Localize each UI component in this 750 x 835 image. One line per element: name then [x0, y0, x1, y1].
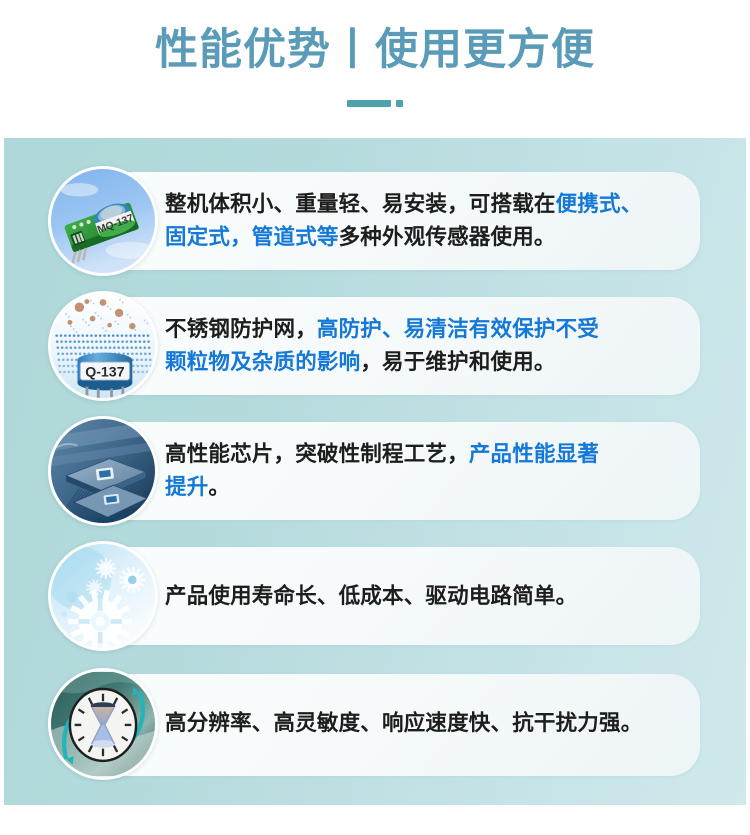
mq137-sensor-module-icon: MQ-137 — [48, 166, 158, 276]
feature-list: MQ-137 整机体积小、重量轻、易安装，可搭载在便携式、固定式，管道式等多种外… — [0, 138, 750, 805]
body-text: 整机体积小、重量轻、易安装，可搭载在 — [165, 192, 556, 216]
feature-text: 整机体积小、重量轻、易安装，可搭载在便携式、固定式，管道式等多种外观传感器使用。 — [165, 166, 685, 276]
highlighted-text: 提升 — [165, 475, 208, 499]
body-text: 高性能芯片，突破性制程工艺， — [165, 442, 469, 466]
feature-paragraph: 整机体积小、重量轻、易安装，可搭载在便携式、固定式，管道式等多种外观传感器使用。 — [165, 188, 642, 254]
feature-text: 高性能芯片，突破性制程工艺，产品性能显著提升。 — [165, 416, 685, 526]
highlighted-text: 产品性能显著 — [469, 442, 599, 466]
feature-row: 高分辨率、高灵敏度、响应速度快、抗干扰力强。 — [0, 668, 750, 783]
feature-row: 产品使用寿命长、低成本、驱动电路简单。 — [0, 541, 750, 653]
feature-text: 高分辨率、高灵敏度、响应速度快、抗干扰力强。 — [165, 668, 685, 778]
highlighted-text: 颗粒物及杂质的影响 — [165, 350, 360, 374]
highlighted-text: 高防护、易清洁有效保护不受 — [317, 317, 599, 341]
body-text: ，易于维护和使用。 — [360, 350, 555, 374]
body-text: 不锈钢防护网， — [165, 317, 317, 341]
feature-text: 不锈钢防护网，高防护、易清洁有效保护不受颗粒物及杂质的影响，易于维护和使用。 — [165, 291, 685, 401]
header: 性能优势丨使用更方便 — [0, 0, 750, 138]
feature-paragraph: 不锈钢防护网，高防护、易清洁有效保护不受颗粒物及杂质的影响，易于维护和使用。 — [165, 313, 599, 379]
promo-page: 性能优势丨使用更方便 — [0, 0, 750, 835]
body-text: 产品使用寿命长、低成本、驱动电路简单。 — [165, 584, 577, 608]
feature-row: Q-137 不锈钢防护网，高防护、易清洁有效保护不受颗粒物及杂质的影响，易于维护… — [0, 291, 750, 401]
clock-hourglass-icon — [48, 668, 158, 780]
svg-text:Q-137: Q-137 — [85, 364, 125, 380]
feature-paragraph: 高分辨率、高灵敏度、响应速度快、抗干扰力强。 — [165, 707, 642, 739]
stainless-mesh-sensor-icon: Q-137 — [48, 291, 158, 401]
feature-paragraph: 产品使用寿命长、低成本、驱动电路简单。 — [165, 580, 577, 612]
feature-paragraph: 高性能芯片，突破性制程工艺，产品性能显著提升。 — [165, 438, 599, 504]
body-text: 。 — [208, 475, 230, 499]
highlighted-text: 便携式、 — [556, 192, 643, 216]
feature-row: MQ-137 整机体积小、重量轻、易安装，可搭载在便携式、固定式，管道式等多种外… — [0, 166, 750, 276]
semiconductor-chip-icon — [48, 416, 158, 526]
feature-row: 高性能芯片，突破性制程工艺，产品性能显著提升。 — [0, 416, 750, 526]
highlighted-text: 固定式，管道式等 — [165, 225, 339, 249]
gears-icon — [48, 541, 158, 651]
title-divider — [0, 97, 750, 109]
body-text: 高分辨率、高灵敏度、响应速度快、抗干扰力强。 — [165, 711, 642, 735]
divider-dot — [396, 100, 403, 107]
page-title: 性能优势丨使用更方便 — [0, 22, 750, 78]
divider-bar — [347, 100, 391, 107]
body-text: 多种外观传感器使用。 — [339, 225, 556, 249]
feature-text: 产品使用寿命长、低成本、驱动电路简单。 — [165, 541, 685, 651]
